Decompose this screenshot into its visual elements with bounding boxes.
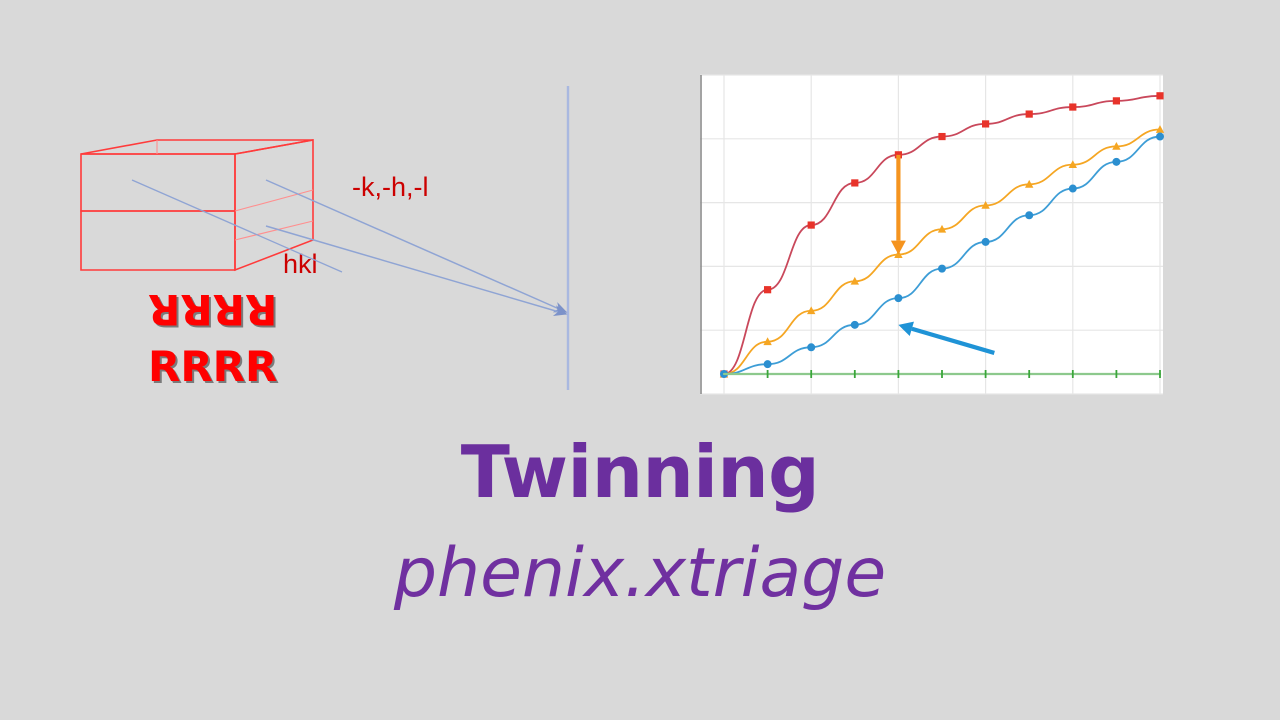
chart-svg bbox=[695, 71, 1167, 398]
chart-marker bbox=[1113, 97, 1120, 104]
chart-marker bbox=[982, 238, 990, 246]
chart-marker bbox=[938, 133, 945, 140]
chart-marker bbox=[808, 221, 815, 228]
chart-marker bbox=[1069, 103, 1076, 110]
chart-marker bbox=[1069, 185, 1077, 193]
box-front-top-half bbox=[81, 154, 235, 211]
chart-marker bbox=[938, 265, 946, 273]
page-subtitle: phenix.xtriage bbox=[0, 534, 1280, 613]
chart-marker bbox=[851, 179, 858, 186]
box-front-bottom-half bbox=[81, 211, 235, 270]
label-minus-k-h-l: -k,-h,-l bbox=[352, 172, 429, 203]
page-title: Twinning bbox=[0, 430, 1280, 514]
crystal-domain-bottom-letters: RRRR bbox=[148, 346, 277, 388]
chart-marker bbox=[1156, 92, 1163, 99]
chart-marker bbox=[1156, 133, 1164, 141]
chart-marker bbox=[851, 321, 859, 329]
slide-canvas: RRRR RRRR hkl -k,-h,-l Twinning phenix.x… bbox=[0, 0, 1280, 720]
chart-marker bbox=[1026, 110, 1033, 117]
chart-marker bbox=[982, 120, 989, 127]
chart-marker bbox=[807, 343, 815, 351]
chart-marker bbox=[764, 360, 772, 368]
orange-down-arrow-head bbox=[891, 241, 906, 255]
chart-gridlines bbox=[700, 75, 1163, 394]
chart-marker bbox=[764, 286, 771, 293]
label-hkl: hkl bbox=[283, 249, 318, 280]
box-mid-plane-edge bbox=[235, 190, 313, 211]
box-lower-plane-edge bbox=[235, 221, 313, 240]
blue-pointer-arrow-head bbox=[898, 322, 914, 336]
chart-marker bbox=[894, 294, 902, 302]
cumulative-intensity-chart bbox=[695, 71, 1167, 398]
chart-marker bbox=[1025, 211, 1033, 219]
chart-marker bbox=[1112, 158, 1120, 166]
chart-series-layer bbox=[720, 92, 1164, 378]
blue-pointer-arrow-shaft bbox=[912, 329, 994, 353]
crystal-domain-top-letters: RRRR bbox=[148, 288, 277, 330]
